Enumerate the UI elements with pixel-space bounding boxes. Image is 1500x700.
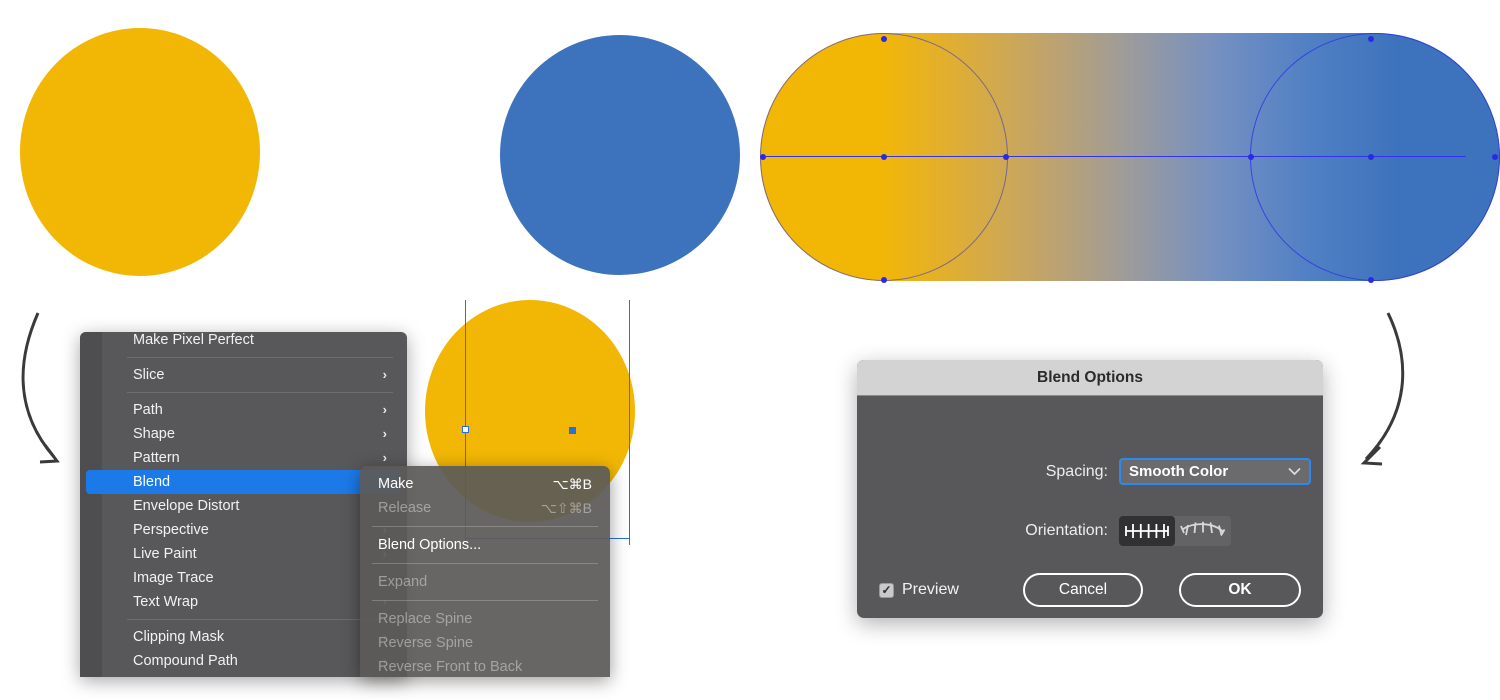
submenu-item-release: Release ⌥⇧⌘B — [366, 496, 604, 520]
submenu-item-label: Blend Options... — [378, 537, 481, 553]
menu-item-compound-path[interactable]: Compound Path › — [86, 649, 401, 673]
spacing-row: Spacing: Smooth Color — [857, 458, 1323, 485]
menu-items-list: Make Pixel Perfect Slice › Path › Shape … — [80, 332, 407, 673]
spacing-label: Spacing: — [857, 463, 1119, 481]
illustrator-blend-screenshot: Make Pixel Perfect Slice › Path › Shape … — [0, 0, 1500, 700]
orientation-button-group — [1119, 516, 1231, 546]
menu-item-label: Image Trace — [133, 570, 214, 586]
menu-item-label: Compound Path — [133, 653, 238, 669]
menu-item-envelope-distort[interactable]: Envelope Distort › — [86, 494, 401, 518]
blend-spine-line — [766, 156, 1466, 157]
submenu-item-shortcut: ⌥⇧⌘B — [541, 496, 592, 520]
menu-item-label: Shape — [133, 426, 175, 442]
menu-separator — [127, 357, 393, 358]
submenu-item-shortcut: ⌥⌘B — [553, 472, 592, 496]
menu-item-text-wrap[interactable]: Text Wrap › — [86, 590, 401, 614]
anchor-point[interactable] — [1003, 154, 1009, 160]
menu-item-live-paint[interactable]: Live Paint › — [86, 542, 401, 566]
context-menu[interactable]: Make Pixel Perfect Slice › Path › Shape … — [80, 332, 407, 677]
submenu-separator — [372, 563, 598, 564]
selection-handle[interactable] — [462, 426, 469, 433]
yellow-circle-shape[interactable] — [20, 28, 260, 276]
align-to-page-icon-button[interactable] — [1119, 516, 1175, 546]
menu-item-label: Path — [133, 402, 163, 418]
blend-submenu[interactable]: Make ⌥⌘B Release ⌥⇧⌘B Blend Options... E… — [360, 466, 610, 677]
preview-label: Preview — [902, 581, 959, 599]
menu-separator — [127, 619, 393, 620]
orientation-label: Orientation: — [857, 522, 1119, 540]
preview-checkbox[interactable]: ✓ — [879, 583, 894, 598]
anchor-point[interactable] — [1368, 36, 1374, 42]
anchor-point-center[interactable] — [569, 427, 576, 434]
orientation-row: Orientation: — [857, 516, 1323, 546]
spacing-select[interactable]: Smooth Color — [1119, 458, 1311, 485]
submenu-item-label: Replace Spine — [378, 611, 472, 627]
submenu-item-label: Reverse Spine — [378, 635, 473, 651]
chevron-down-icon — [1288, 465, 1301, 479]
menu-item-make-pixel-perfect[interactable]: Make Pixel Perfect — [86, 334, 401, 352]
menu-item-label: Text Wrap — [133, 594, 198, 610]
menu-item-image-trace[interactable]: Image Trace › — [86, 566, 401, 590]
dialog-titlebar: Blend Options — [857, 360, 1323, 396]
blue-circle-shape[interactable] — [500, 35, 740, 275]
menu-item-perspective[interactable]: Perspective › — [86, 518, 401, 542]
chevron-right-icon: › — [383, 363, 387, 387]
submenu-item-replace-spine: Replace Spine — [366, 607, 604, 631]
cancel-button[interactable]: Cancel — [1023, 573, 1143, 607]
preview-checkbox-group[interactable]: ✓ Preview — [879, 581, 959, 599]
dialog-footer: ✓ Preview Cancel OK — [857, 581, 1323, 599]
anchor-point[interactable] — [1368, 277, 1374, 283]
submenu-item-label: Release — [378, 500, 431, 516]
blend-options-dialog: Blend Options Spacing: Smooth Color Orie… — [857, 360, 1323, 618]
anchor-point[interactable] — [1368, 154, 1374, 160]
dialog-title: Blend Options — [1037, 369, 1143, 387]
submenu-item-reverse-spine: Reverse Spine — [366, 631, 604, 655]
menu-item-pattern[interactable]: Pattern › — [86, 446, 401, 470]
ok-button[interactable]: OK — [1179, 573, 1301, 607]
menu-item-label: Pattern — [133, 450, 180, 466]
submenu-item-expand: Expand — [366, 570, 604, 594]
submenu-item-blend-options[interactable]: Blend Options... — [366, 533, 604, 557]
align-to-path-icon-button[interactable] — [1175, 516, 1231, 546]
menu-item-label: Make Pixel Perfect — [133, 332, 254, 348]
dialog-body: Spacing: Smooth Color Orientation: — [857, 396, 1323, 618]
submenu-item-label: Reverse Front to Back — [378, 659, 522, 675]
menu-item-label: Live Paint — [133, 546, 197, 562]
submenu-item-label: Make — [378, 476, 413, 492]
anchor-point[interactable] — [760, 154, 766, 160]
menu-item-shape[interactable]: Shape › — [86, 422, 401, 446]
chevron-right-icon: › — [383, 422, 387, 446]
blend-path-outline-right — [1250, 33, 1500, 281]
submenu-item-reverse-front-to-back: Reverse Front to Back — [366, 655, 604, 677]
submenu-item-make[interactable]: Make ⌥⌘B — [366, 472, 604, 496]
anchor-point[interactable] — [881, 277, 887, 283]
anchor-point[interactable] — [1492, 154, 1498, 160]
menu-item-label: Slice — [133, 367, 164, 383]
menu-item-label: Clipping Mask — [133, 629, 224, 645]
menu-separator — [127, 392, 393, 393]
menu-item-label: Blend — [133, 474, 170, 490]
submenu-separator — [372, 600, 598, 601]
menu-item-blend[interactable]: Blend › — [86, 470, 401, 494]
menu-item-label: Perspective — [133, 522, 209, 538]
menu-item-clipping-mask[interactable]: Clipping Mask › — [86, 625, 401, 649]
menu-item-slice[interactable]: Slice › — [86, 363, 401, 387]
submenu-item-label: Expand — [378, 574, 427, 590]
anchor-point[interactable] — [881, 154, 887, 160]
chevron-right-icon: › — [383, 398, 387, 422]
curved-arrow-right-icon — [1350, 305, 1425, 485]
anchor-point[interactable] — [881, 36, 887, 42]
spacing-selected-value: Smooth Color — [1129, 463, 1288, 480]
menu-item-label: Envelope Distort — [133, 498, 239, 514]
curved-arrow-left-icon — [10, 305, 80, 485]
menu-item-path[interactable]: Path › — [86, 398, 401, 422]
anchor-point[interactable] — [1248, 154, 1254, 160]
submenu-separator — [372, 526, 598, 527]
